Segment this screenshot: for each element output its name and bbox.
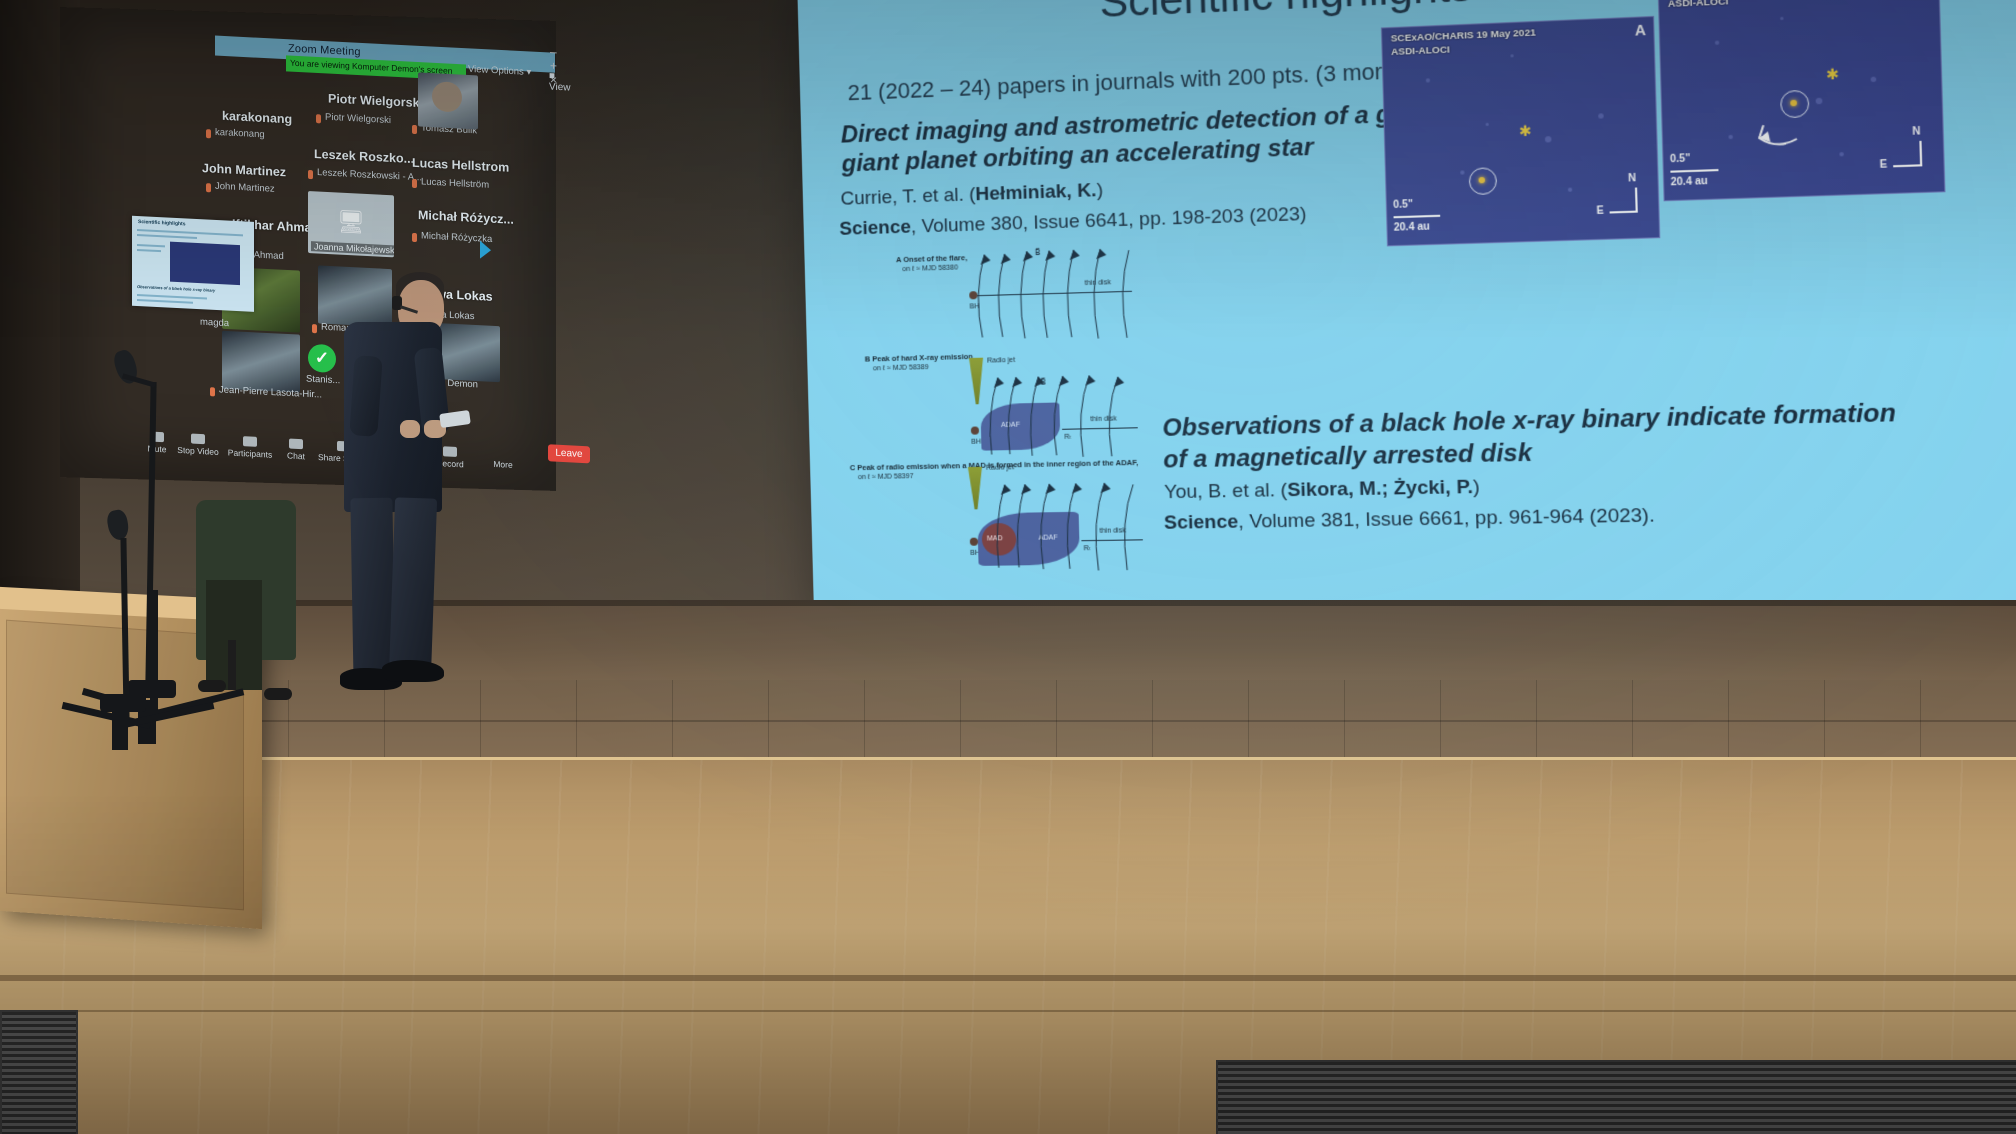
bh-caption-b-line1: B Peak of hard X-ray emission, <box>865 352 975 364</box>
astro-a-compass-n: N <box>1628 173 1636 185</box>
next-page-arrow-icon[interactable] <box>480 241 491 260</box>
microphone-icon <box>206 129 211 138</box>
paper-2-authors-tail: ) <box>1473 476 1480 498</box>
bh-caption-c-line2: on ℓ ≈ MJD 58397 <box>858 473 914 481</box>
presenter-right-shoe <box>382 660 444 682</box>
participant-video-tile[interactable] <box>418 72 478 129</box>
toolbar-chat-label: Chat <box>287 450 305 461</box>
host-star-marker-icon: ✱ <box>1519 122 1532 140</box>
astro-a-instrument-line2: ASDI-ALOCI <box>1391 45 1450 59</box>
toolbar-chat-button[interactable]: Chat <box>280 438 312 462</box>
participant-name-leszek: Leszek Roszko... <box>314 147 414 166</box>
lecture-hall-scene: Zoom Meeting – + × You are viewing Kompu… <box>0 0 2016 1134</box>
svg-text:B⃗: B⃗ <box>1035 246 1041 257</box>
chair-wheel <box>198 680 226 692</box>
bh-label-radio-jet: Radio jet <box>987 357 1015 365</box>
black-hole-diagram: A Onset of the flare, on ℓ ≈ MJD 58380 B… <box>834 242 1323 607</box>
chair-wheel <box>264 688 292 700</box>
participant-label-magda: magda <box>200 317 229 329</box>
toolbar-more-button[interactable]: More <box>486 458 520 470</box>
presenter-left-arm <box>349 355 383 437</box>
microphone-icon <box>312 324 317 333</box>
participant-video-tile-joanna[interactable]: 🖥 Joanna Mikołajewska <box>308 191 394 257</box>
participant-label-lucas: Lucas Hellström <box>421 176 489 190</box>
microphone-icon <box>412 179 417 188</box>
paper-1-authors-plain: Currie, T. et al. ( <box>840 184 975 210</box>
microphone-icon <box>308 170 313 179</box>
toolbar-stop-video-label: Stop Video <box>177 445 218 457</box>
participant-label-stanis: Stanis... <box>306 374 340 387</box>
presenter-left-hand <box>400 420 420 438</box>
view-button[interactable]: ■ View <box>549 70 571 93</box>
astro-a-scale-arcsec: 0.5" <box>1393 199 1413 211</box>
chevron-down-icon: ▾ <box>526 67 531 78</box>
magnetic-field-lines: B⃗ <box>984 370 1160 461</box>
view-button-label: View <box>549 81 571 93</box>
floor-vent-right <box>1216 1060 2016 1134</box>
toolbar-participants-label: Participants <box>228 447 272 459</box>
astro-panel-a: SCExAO/CHARIS 19 May 2021 ASDI-ALOCI A ✱… <box>1381 16 1660 246</box>
orbit-motion-arrow-icon <box>1757 118 1802 151</box>
participant-label-john: John Martinez <box>215 181 275 195</box>
microphone-icon <box>412 233 417 242</box>
astro-b-scale-arcsec: 0.5" <box>1670 153 1691 165</box>
participant-name-john: John Martinez <box>202 161 286 179</box>
bh-caption-a-line2: on ℓ ≈ MJD 58380 <box>902 264 958 273</box>
bh-caption-a-line1: A Onset of the flare, <box>896 253 967 264</box>
presenter-right-leg <box>389 497 437 678</box>
participant-name-karakonang: karakonang <box>222 109 292 127</box>
participant-label-lasota: Jean-Pierre Lasota-Hir... <box>219 384 322 400</box>
participant-label-karakonang: karakonang <box>215 127 265 141</box>
stage-lower-edge <box>0 975 2016 981</box>
participant-name-lucas: Lucas Hellstrom <box>412 156 509 175</box>
laptop-icon: 🖥 <box>337 208 365 235</box>
toolbar-participants-button[interactable]: Participants <box>224 435 276 460</box>
astro-panel-b: SCExAO/CHARIS 17 October 2021 ASDI-ALOCI… <box>1657 0 1945 201</box>
camera-icon <box>191 434 205 445</box>
astro-b-compass-n: N <box>1912 126 1920 138</box>
toolbar-stop-video-button[interactable]: Stop Video <box>176 433 220 457</box>
microphone-icon <box>210 387 215 396</box>
participant-video-tile-roman[interactable] <box>318 265 392 327</box>
paper-1-journal: Science, Volume 380, Issue 6641, pp. 198… <box>839 204 1307 241</box>
participant-label-leszek: Leszek Roszkowski - A... <box>317 167 422 183</box>
shared-screen-slide-preview: Scientific highlights Observations of a … <box>132 216 254 312</box>
participant-label-piotr: Piotr Wielgorski <box>325 112 391 126</box>
microphone-tripod-leg <box>112 712 128 750</box>
leave-meeting-button[interactable]: Leave <box>548 444 590 463</box>
microphone-icon <box>316 114 321 123</box>
toolbar-mute-button[interactable]: Mute <box>140 431 174 455</box>
slide-title: Scientific highlights <box>1099 0 1473 27</box>
chat-icon <box>289 439 303 450</box>
status-check-icon: ✓ <box>308 344 336 373</box>
bh-label-radio-jet: Radio jet <box>986 464 1014 472</box>
radio-jet-cone <box>968 467 983 510</box>
participants-icon <box>243 436 257 447</box>
astro-b-scale-au: 20.4 au <box>1671 176 1708 189</box>
astro-b-compass-e: E <box>1880 159 1888 171</box>
paper-1-authors: Currie, T. et al. (Hełminiak, K.) <box>840 180 1103 211</box>
magnetic-field-lines: B⃗ <box>974 239 1160 346</box>
tile-caption-joanna: Joanna Mikołajewska <box>311 241 394 256</box>
black-hole-dot <box>970 538 978 546</box>
svg-text:B⃗: B⃗ <box>1040 376 1046 387</box>
participant-name-michal: Michał Różycz... <box>418 208 514 227</box>
chair-column <box>228 640 236 690</box>
radio-jet-cone <box>969 358 984 405</box>
astro-a-scale-au: 20.4 au <box>1394 221 1430 233</box>
astro-a-instrument-line1: SCExAO/CHARIS 19 May 2021 <box>1391 28 1536 45</box>
paper-1-authors-tail: ) <box>1096 180 1103 202</box>
paper-1-journal-name: Science <box>839 217 911 240</box>
microphone-icon <box>206 183 211 192</box>
presentation-slide: Scientific highlights 21 (2022 – 24) pap… <box>797 0 2016 638</box>
paper-1-authors-bold: Hełminiak, K. <box>975 180 1097 205</box>
microphone-icon <box>412 125 417 134</box>
participant-name-piotr: Piotr Wielgorski <box>328 91 423 110</box>
record-icon <box>443 446 457 457</box>
astro-b-instrument-line2: ASDI-ALOCI <box>1668 0 1729 11</box>
magnetic-field-lines <box>990 478 1166 574</box>
main-projection-screen: Scientific highlights 21 (2022 – 24) pap… <box>806 0 2016 650</box>
host-star-marker-icon: ✱ <box>1826 65 1840 83</box>
astro-a-panel-letter: A <box>1635 22 1646 39</box>
toolbar-more-label: More <box>493 459 512 470</box>
black-hole-dot <box>971 426 979 434</box>
mini-slide-title: Scientific highlights <box>138 219 186 227</box>
astro-a-compass-e: E <box>1596 205 1604 217</box>
bh-label-bh: BH <box>971 439 981 446</box>
floor-vent-left <box>0 1010 78 1134</box>
bh-caption-b-line2: on ℓ ≈ MJD 58389 <box>873 364 929 372</box>
paper-1-journal-rest: , Volume 380, Issue 6641, pp. 198-203 (2… <box>911 204 1307 238</box>
participant-video-tile-lasota[interactable] <box>222 331 300 393</box>
microphone-stand-hub <box>100 694 146 712</box>
zoom-projection-screen: Zoom Meeting – + × You are viewing Kompu… <box>60 7 556 491</box>
